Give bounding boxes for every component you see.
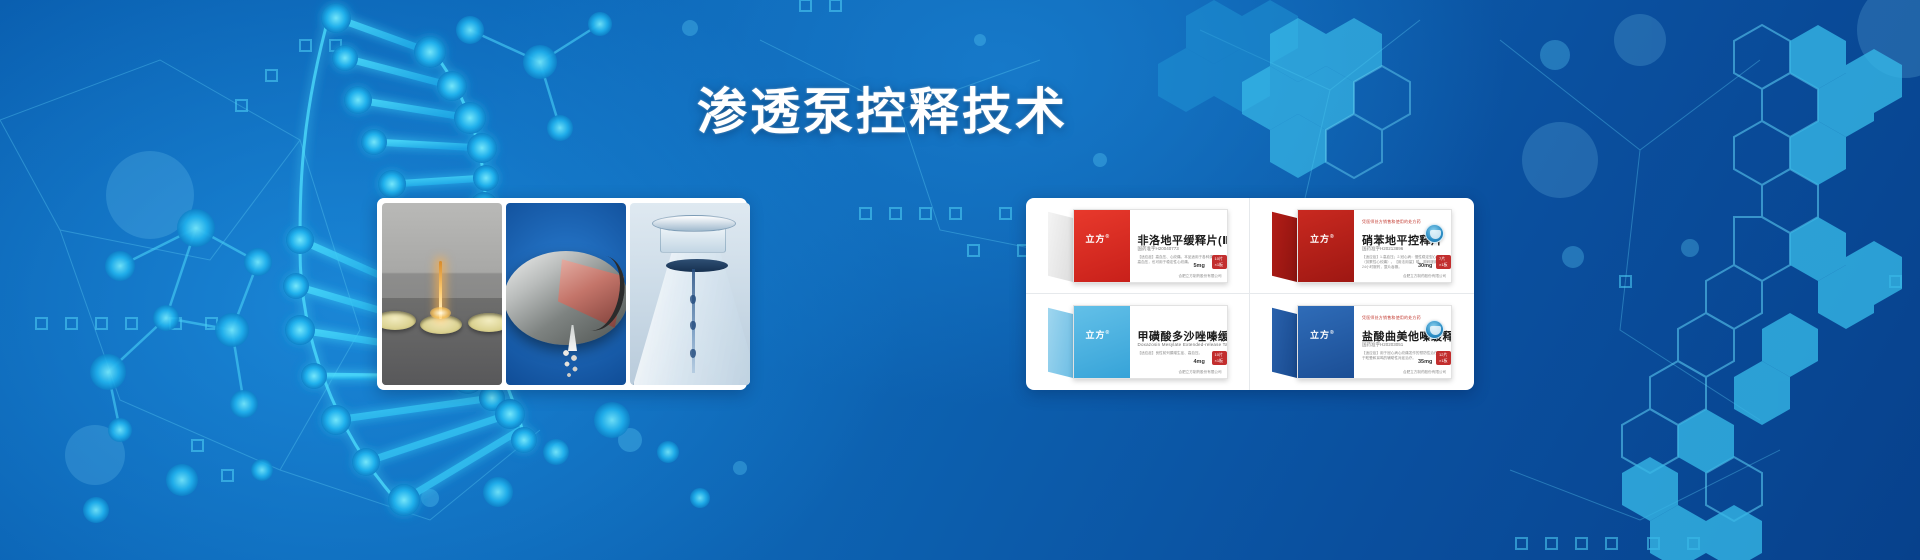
product-approval-no: 国药准字H20213896 (1362, 246, 1403, 252)
product-name-en: Doxazosin Mesylate Extended-release Tabl… (1138, 342, 1228, 347)
flask-lip (652, 215, 736, 232)
product-box-color-band (1074, 210, 1130, 282)
flask-drop-3 (690, 349, 696, 358)
product-box-side (1272, 308, 1298, 378)
quality-seal-icon (1425, 320, 1444, 339)
brand-logo: 立方® (1310, 328, 1335, 341)
product-cell-3[interactable]: 立方® 甲磺酸多沙唑嗪缓释片 Doxazosin Mesylate Extend… (1026, 294, 1250, 390)
product-showcase-panel: 立方® 非洛地平缓释片(Ⅱ) 国药准字H20040773 【适应症】高血压、心绞… (1026, 198, 1474, 390)
product-prescription-note: 凭医师处方销售和使用的处方药 (1362, 219, 1421, 225)
brand-logo: 立方® (1310, 232, 1335, 245)
process-photo-gallery (377, 198, 747, 390)
product-indication-text: 【适应症】良性前列腺增生症、高血压。 (1138, 351, 1224, 356)
brand-logo: 立方® (1086, 328, 1111, 341)
product-pack: 12片×1板 (1436, 351, 1451, 365)
product-box-side (1048, 211, 1074, 281)
product-approval-no: 国药准字H20203051 (1362, 342, 1403, 348)
product-cell-2[interactable]: 立方® 凭医师处方销售和使用的处方药 硝苯地平控释片 国药准字H20213896… (1250, 198, 1474, 294)
product-box-face: 立方® 凭医师处方销售和使用的处方药 硝苯地平控释片 国药准字H20213896… (1297, 209, 1452, 283)
product-box-side (1048, 308, 1074, 378)
product-dose: 4mg (1194, 359, 1205, 365)
product-dose: 5mg (1194, 263, 1205, 269)
product-cell-1[interactable]: 立方® 非洛地平缓释片(Ⅱ) 国药准字H20040773 【适应症】高血压、心绞… (1026, 198, 1250, 294)
background-decoration (0, 0, 1920, 560)
product-box-color-band (1298, 210, 1354, 282)
product-approval-no: 国药准字H20040773 (1138, 246, 1179, 252)
product-indication-text: 【适应症】高血压、心绞痛。本品适用于各种类型的高血压，也可用于稳定性心绞痛。 (1138, 255, 1224, 266)
product-manufacturer: 合肥立方制药股份有限公司 (1403, 274, 1446, 279)
product-box-color-band (1298, 306, 1354, 378)
quality-seal-icon (1425, 224, 1444, 243)
product-manufacturer: 合肥立方制药股份有限公司 (1179, 274, 1222, 279)
flask-disc (666, 259, 728, 272)
product-pack: 7片×1板 (1436, 255, 1451, 269)
brand-logo: 立方® (1086, 232, 1111, 245)
product-pack: 10片×1板 (1212, 351, 1227, 365)
tablet-hole-3 (468, 313, 502, 332)
product-prescription-note: 凭医师处方销售和使用的处方药 (1362, 315, 1421, 321)
product-pack: 10片×1板 (1212, 255, 1227, 269)
product-box-felodipine: 立方® 非洛地平缓释片(Ⅱ) 国药准字H20040773 【适应症】高血压、心绞… (1048, 209, 1228, 283)
product-manufacturer: 合肥立方制药股份有限公司 (1179, 370, 1222, 375)
product-cell-4[interactable]: 立方® 凭医师处方销售和使用的处方药 盐酸曲美他嗪缓释片 国药准字H202030… (1250, 294, 1474, 390)
product-manufacturer: 合肥立方制药股份有限公司 (1403, 370, 1446, 375)
product-box-face: 立方® 非洛地平缓释片(Ⅱ) 国药准字H20040773 【适应症】高血压、心绞… (1073, 209, 1228, 283)
product-box-trimetazidine: 立方® 凭医师处方销售和使用的处方药 盐酸曲美他嗪缓释片 国药准字H202030… (1272, 305, 1452, 379)
product-dose: 35mg (1418, 359, 1432, 365)
product-box-nifedipine: 立方® 凭医师处方销售和使用的处方药 硝苯地平控释片 国药准字H20213896… (1272, 209, 1452, 283)
product-box-color-band (1074, 306, 1130, 378)
product-box-side (1272, 211, 1298, 281)
tablet-cross-section-photo (506, 203, 626, 385)
dissolution-flask-photo (630, 203, 750, 385)
hero-banner: 渗透泵控释技术 (0, 0, 1920, 560)
tablet-released-particles (560, 349, 586, 381)
flask-drop-2 (690, 321, 696, 330)
laser-drilling-photo (382, 203, 502, 385)
product-dose: 30mg (1418, 263, 1432, 269)
product-box-face: 立方® 甲磺酸多沙唑嗪缓释片 Doxazosin Mesylate Extend… (1073, 305, 1228, 379)
laser-spark (430, 307, 451, 319)
product-box-doxazosin: 立方® 甲磺酸多沙唑嗪缓释片 Doxazosin Mesylate Extend… (1048, 305, 1228, 379)
product-box-face: 立方® 凭医师处方销售和使用的处方药 盐酸曲美他嗪缓释片 国药准字H202030… (1297, 305, 1452, 379)
flask-drop-1 (690, 295, 696, 304)
